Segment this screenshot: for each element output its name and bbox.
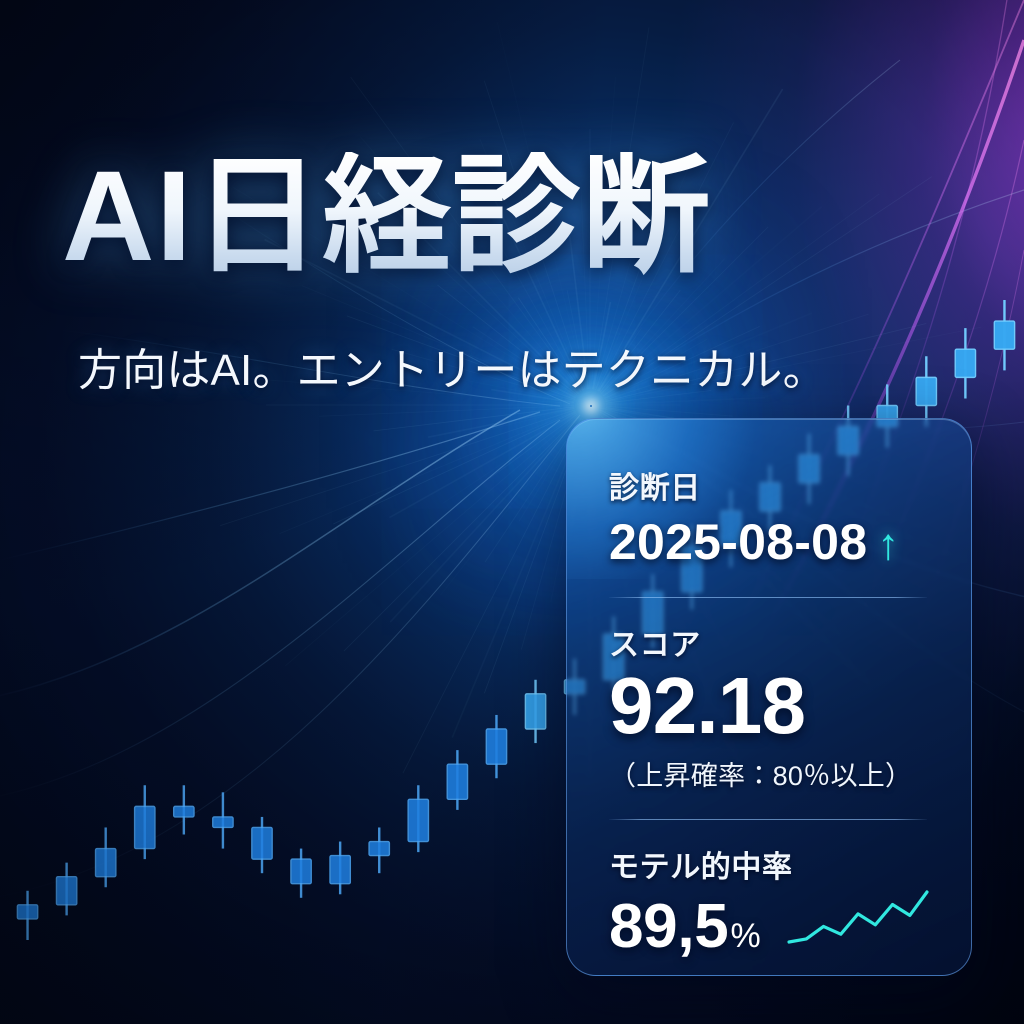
diagnosis-card[interactable]: 診断日 2025-08-08 ↑ スコア 92.18 （上昇確率：80％以上） … (566, 418, 972, 976)
model-accuracy-label: モテル的中率 (609, 842, 933, 886)
score-label: スコア (609, 620, 933, 664)
score-block: スコア 92.18 （上昇確率：80％以上） (609, 620, 933, 793)
diagnosis-date-value: 2025-08-08 (609, 513, 867, 571)
model-accuracy-unit: % (730, 917, 760, 955)
rising-line-icon (783, 886, 933, 948)
model-accuracy-value: 89,5 (609, 892, 728, 961)
diagnosis-date-label: 診断日 (609, 463, 933, 507)
divider-1 (609, 597, 927, 598)
page-subtitle: 方向はAI。エントリーはテクニカル。 (78, 334, 827, 398)
diagnosis-date-block: 診断日 2025-08-08 ↑ (609, 463, 933, 571)
poster-canvas: AI日経診断 方向はAI。エントリーはテクニカル。 診断日 2025-08-08… (0, 0, 1024, 1024)
page-title: AI日経診断 (62, 152, 882, 283)
model-accuracy-block: モテル的中率 89,5% (609, 842, 933, 958)
headline-block: AI日経診断 (62, 152, 882, 283)
diagnosis-date-value-row: 2025-08-08 ↑ (609, 513, 933, 571)
divider-2 (609, 819, 927, 820)
model-accuracy-value-row: 89,5% (609, 896, 760, 958)
trend-up-arrow-icon: ↑ (877, 520, 899, 570)
score-value: 92.18 (609, 666, 933, 746)
score-note: （上昇確率：80％以上） (609, 754, 933, 793)
